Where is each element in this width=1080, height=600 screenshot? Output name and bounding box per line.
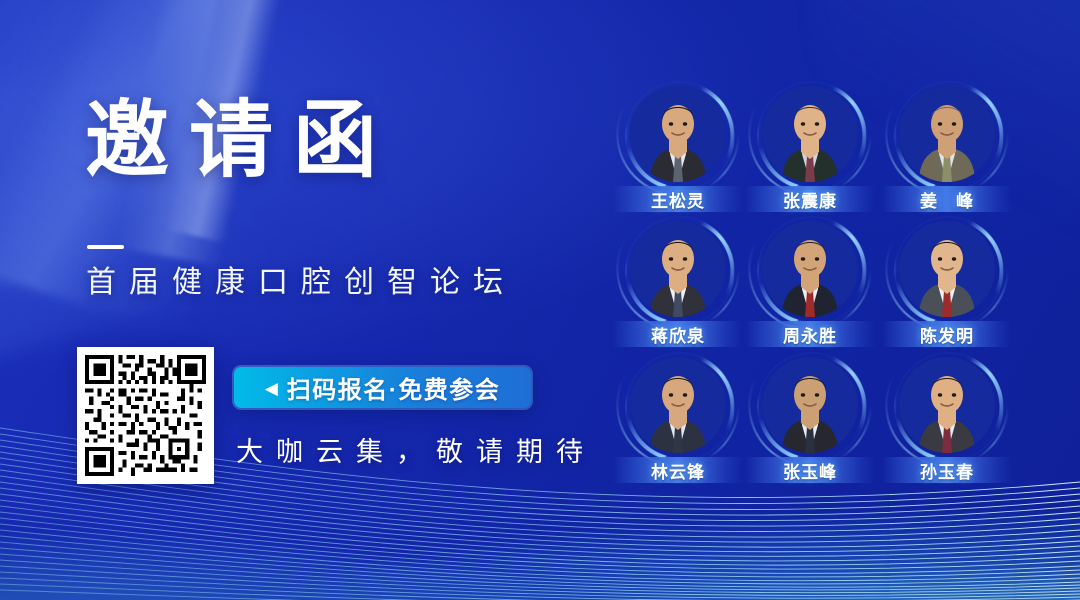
speaker-card[interactable]: 王松灵: [613, 86, 743, 182]
speaker-name-plate: 张玉峰: [745, 457, 875, 483]
portrait-outer-ring: [885, 343, 1009, 467]
portrait-outer-ring: [616, 207, 740, 331]
speaker-card[interactable]: 蒋欣泉: [613, 221, 743, 317]
portrait-outer-ring: [885, 72, 1009, 196]
title-divider: [87, 245, 124, 249]
speaker-name-plate: 孙玉春: [882, 457, 1012, 483]
speaker-card[interactable]: 张玉峰: [745, 357, 875, 453]
page-subtitle: 首届健康口腔创智论坛: [86, 265, 516, 301]
speaker-name: 林云锋: [651, 458, 705, 483]
page-title: 邀请函: [85, 98, 397, 182]
portrait-outer-ring: [885, 207, 1009, 331]
speaker-grid: 王松灵张震康姜 峰蒋欣泉周永胜陈发明林云锋张玉峰孙玉春: [608, 86, 1048, 506]
speaker-card[interactable]: 林云锋: [613, 357, 743, 453]
portrait-outer-ring: [616, 72, 740, 196]
speaker-name-plate: 林云锋: [613, 457, 743, 483]
invitation-poster: 邀请函 首届健康口腔创智论坛: [0, 0, 1080, 600]
left-content-column: 邀请函 首届健康口腔创智论坛: [0, 0, 600, 600]
qr-code-image: [85, 355, 206, 476]
speaker-card[interactable]: 张震康: [745, 86, 875, 182]
speaker-card[interactable]: 孙玉春: [882, 357, 1012, 453]
portrait-outer-ring: [616, 343, 740, 467]
arrow-left-icon: ◀: [265, 380, 278, 397]
speaker-card[interactable]: 陈发明: [882, 221, 1012, 317]
signup-button-label: 扫码报名·免费参会: [287, 370, 501, 405]
speaker-name: 张玉峰: [783, 458, 837, 483]
portrait-outer-ring: [748, 207, 872, 331]
speaker-name: 孙玉春: [920, 458, 974, 483]
tagline: 大咖云集，敬请期待: [236, 430, 596, 469]
portrait-outer-ring: [748, 343, 872, 467]
signup-button[interactable]: ◀ 扫码报名·免费参会: [234, 367, 531, 408]
speaker-card[interactable]: 周永胜: [745, 221, 875, 317]
portrait-outer-ring: [748, 72, 872, 196]
qr-code[interactable]: [77, 347, 214, 484]
speaker-card[interactable]: 姜 峰: [882, 86, 1012, 182]
